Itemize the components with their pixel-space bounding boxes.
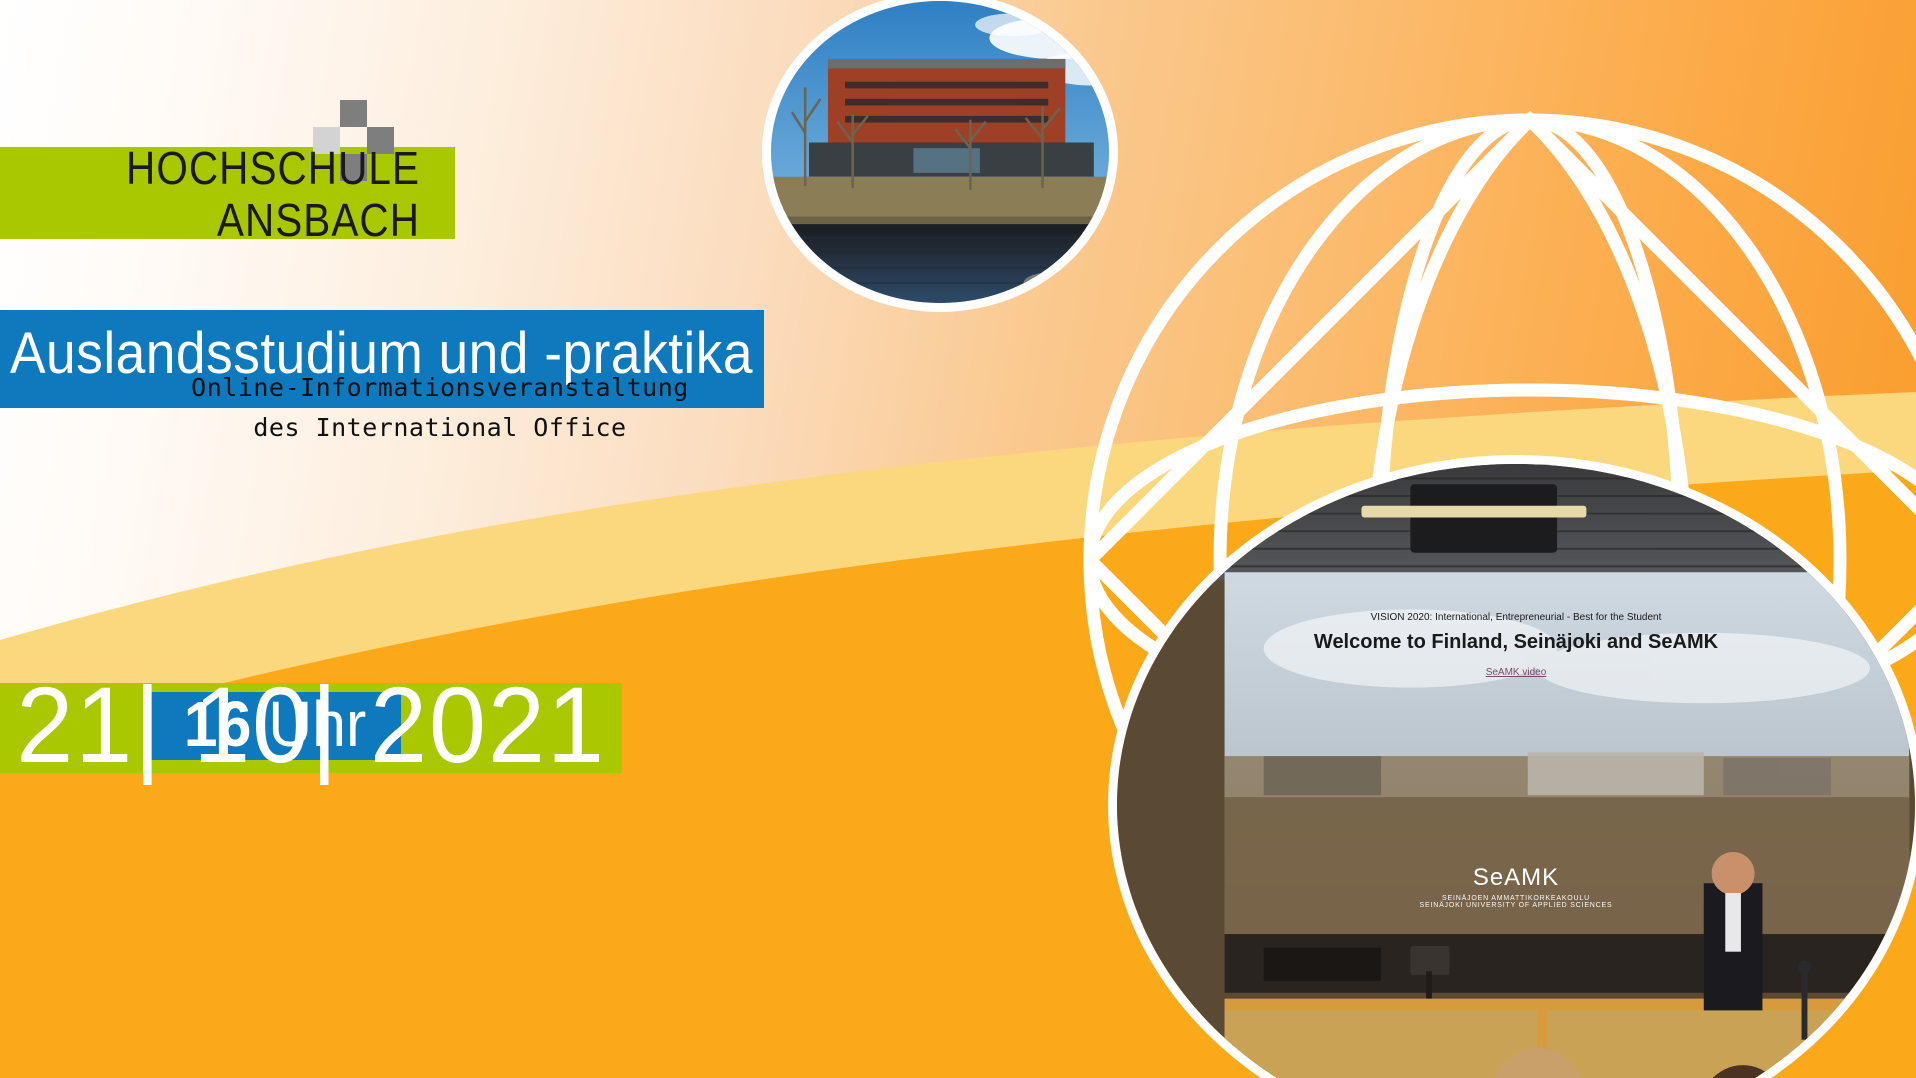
subtitle-line-2: des International Office <box>40 408 840 448</box>
slide-vision-rest: International, Entrepreneurial - Best fo… <box>1432 612 1661 623</box>
photo-campus <box>762 0 1118 312</box>
logo-line-2: ANSBACH <box>50 194 420 246</box>
poster-canvas: VISION 2020: International, Entrepreneur… <box>0 0 1916 1078</box>
logo-line-1: HOCHSCHULE <box>50 142 420 194</box>
slide-video-link: SeAMK video <box>1117 667 1915 678</box>
subtitle-line-1: Online-Informationsveranstaltung <box>40 368 840 408</box>
seamk-logo-sub-fi: SEINÄJOEN AMMATTIKORKEAKOULU <box>1117 895 1915 902</box>
slide-vision-bold: VISION 2020: <box>1371 612 1433 623</box>
photo-lecture-hall: VISION 2020: International, Entrepreneur… <box>1108 455 1916 1078</box>
date-wrap: 21| 10| 2021 <box>0 655 622 795</box>
logo-cross-top-square <box>340 100 367 127</box>
date-label: 21| 10| 2021 <box>16 655 607 795</box>
seamk-logo: SeAMK SEINÄJOEN AMMATTIKORKEAKOULU SEINÄ… <box>1117 864 1915 909</box>
seamk-logo-name: SeAMK <box>1117 864 1915 892</box>
slide-vision-line: VISION 2020: International, Entrepreneur… <box>1117 612 1915 623</box>
subtitle-block: Online-Informationsveranstaltung des Int… <box>40 368 840 448</box>
logo-wordmark: HOCHSCHULE ANSBACH <box>50 142 420 246</box>
slide-welcome-title: Welcome to Finland, Seinäjoki and SeAMK <box>1117 631 1915 654</box>
seamk-logo-sub-en: SEINÄJOKI UNIVERSITY OF APPLIED SCIENCES <box>1117 902 1915 909</box>
